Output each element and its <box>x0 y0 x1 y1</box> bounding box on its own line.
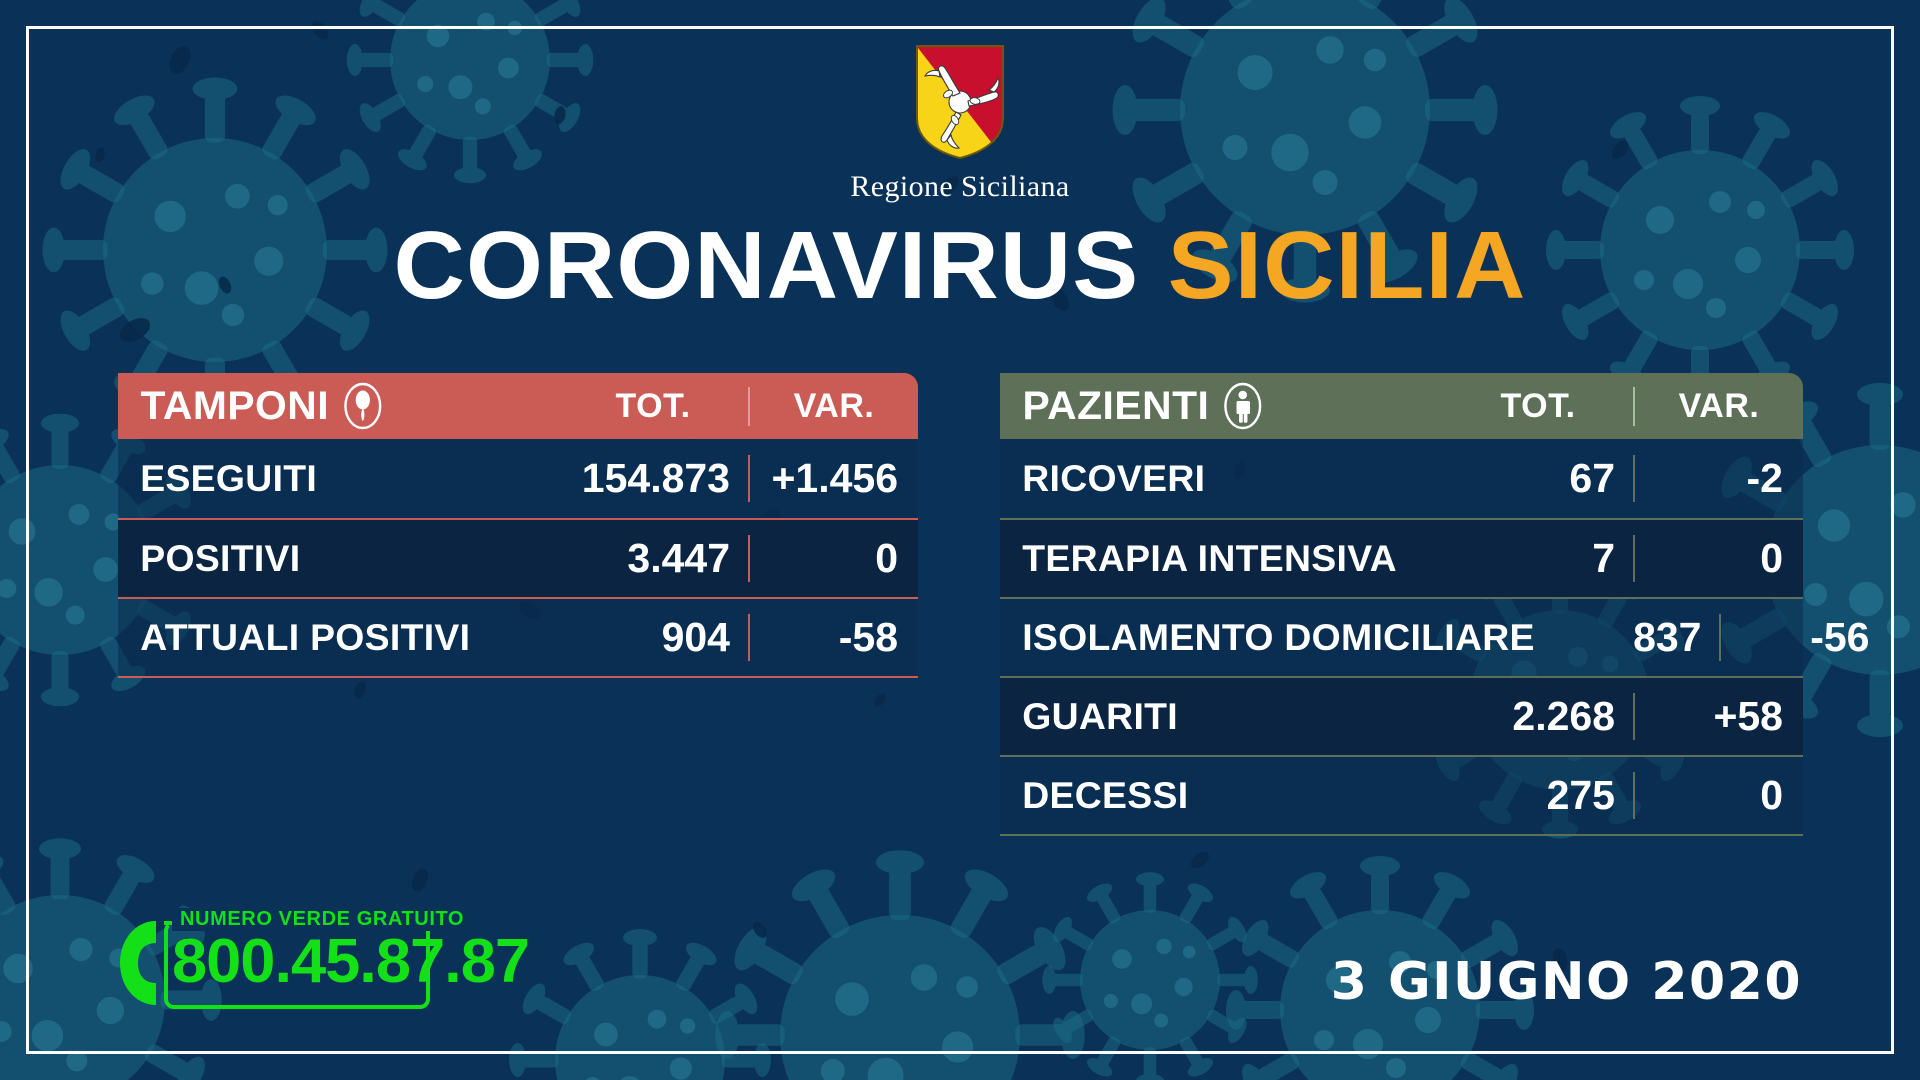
brand-caption: Regione Siciliana <box>850 170 1069 204</box>
row-variation: 0 <box>1633 772 1803 819</box>
table-tamponi-body: ESEGUITI 154.873 +1.456 POSITIVI 3.447 0… <box>118 439 918 678</box>
row-variation: +1.456 <box>748 455 918 502</box>
row-label: ESEGUITI <box>118 458 562 500</box>
regione-siciliana-logo: Regione Siciliana <box>0 44 1920 204</box>
table-tamponi-col-total: TOT. <box>558 387 748 426</box>
table-tamponi: TAMPONI TOT. VAR. ESEGUITI 154.873 +1.45… <box>118 373 918 678</box>
row-total: 837 <box>1529 614 1719 661</box>
page-title: CORONAVIRUS SICILIA <box>0 218 1920 314</box>
row-variation: -2 <box>1633 455 1803 502</box>
table-tamponi-header: TAMPONI TOT. VAR. <box>118 373 918 439</box>
table-pazienti-col-total: TOT. <box>1443 387 1633 426</box>
helpline-block: NUMERO VERDE GRATUITO 800.45.87.87 <box>112 905 432 1021</box>
sicilian-coat-of-arms-trinacria-icon <box>915 44 1005 160</box>
coronavirus-sicilia-infographic: Regione Siciliana CORONAVIRUS SICILIA TA… <box>0 0 1920 1080</box>
table-pazienti-body: RICOVERI 67 -2 TERAPIA INTENSIVA 7 0 ISO… <box>1000 439 1803 836</box>
row-variation: -58 <box>748 614 918 661</box>
person-icon <box>1222 382 1265 430</box>
table-row: ISOLAMENTO DOMICILIARE 837 -56 <box>1000 597 1803 676</box>
row-label: POSITIVI <box>118 538 562 580</box>
table-pazienti-header: PAZIENTI TOT. VAR. <box>1000 373 1803 439</box>
table-row: ATTUALI POSITIVI 904 -58 <box>118 597 918 676</box>
row-label: ATTUALI POSITIVI <box>118 617 562 659</box>
row-total: 7 <box>1443 535 1633 582</box>
row-total: 3.447 <box>558 535 748 582</box>
row-label: RICOVERI <box>1000 458 1447 500</box>
row-total: 2.268 <box>1443 693 1633 740</box>
table-row: DECESSI 275 0 <box>1000 755 1803 834</box>
report-date: 3 GIUGNO 2020 <box>1331 952 1802 1012</box>
table-pazienti: PAZIENTI TOT. VAR. RICOVERI 67 -2 <box>1000 373 1803 836</box>
row-label: ISOLAMENTO DOMICILIARE <box>1000 617 1535 659</box>
phone-handset-icon <box>112 917 158 1009</box>
row-total: 275 <box>1443 772 1633 819</box>
table-row: POSITIVI 3.447 0 <box>118 518 918 597</box>
table-row: TERAPIA INTENSIVA 7 0 <box>1000 518 1803 597</box>
row-label: GUARITI <box>1000 696 1447 738</box>
row-total: 67 <box>1443 455 1633 502</box>
table-pazienti-col-variation: VAR. <box>1633 387 1803 426</box>
table-row: GUARITI 2.268 +58 <box>1000 676 1803 755</box>
row-variation: 0 <box>1633 535 1803 582</box>
table-tamponi-title-group: TAMPONI <box>118 382 567 430</box>
row-label: DECESSI <box>1000 775 1447 817</box>
row-total: 904 <box>558 614 748 661</box>
row-variation: +58 <box>1633 693 1803 740</box>
row-total: 154.873 <box>558 455 748 502</box>
table-pazienti-title-group: PAZIENTI <box>1000 382 1452 430</box>
helpline-number[interactable]: 800.45.87.87 <box>172 931 529 993</box>
page-title-highlight: SICILIA <box>1168 212 1527 319</box>
table-row: RICOVERI 67 -2 <box>1000 439 1803 518</box>
table-row: ESEGUITI 154.873 +1.456 <box>118 439 918 518</box>
row-label: TERAPIA INTENSIVA <box>1000 538 1447 580</box>
page-title-main: CORONAVIRUS <box>394 212 1140 319</box>
row-variation: 0 <box>748 535 918 582</box>
table-tamponi-col-variation: VAR. <box>748 387 918 426</box>
table-pazienti-label: PAZIENTI <box>1022 384 1209 429</box>
table-tamponi-label: TAMPONI <box>140 384 329 429</box>
row-variation: -56 <box>1719 614 1889 661</box>
swab-icon <box>341 382 384 430</box>
